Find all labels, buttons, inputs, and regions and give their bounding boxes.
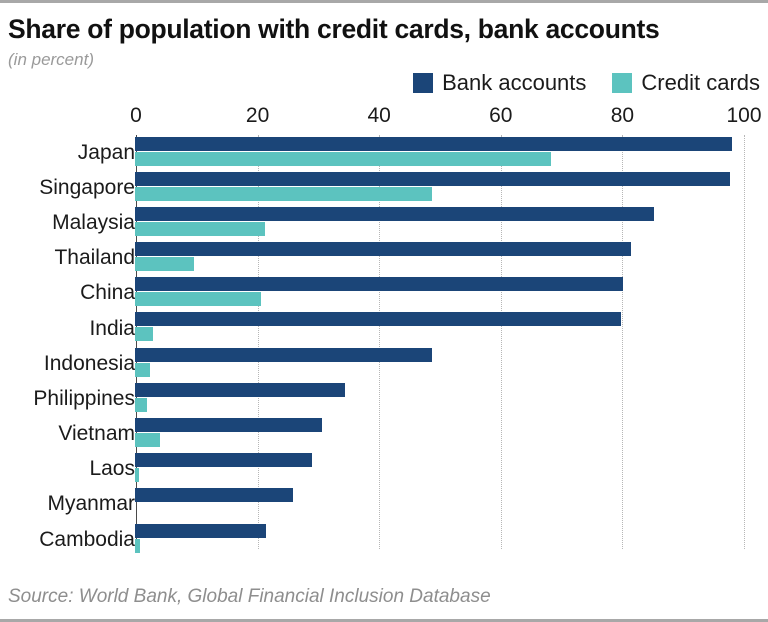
bar-row: China <box>0 276 768 311</box>
bar-vietnam-bank-accounts[interactable] <box>135 418 322 432</box>
bar-row: Laos <box>0 452 768 487</box>
legend-label-bank-accounts: Bank accounts <box>442 70 586 96</box>
bar-group <box>135 522 768 557</box>
chart-subtitle: (in percent) <box>8 50 94 70</box>
bar-rows: JapanSingaporeMalaysiaThailandChinaIndia… <box>0 135 768 557</box>
legend-label-credit-cards: Credit cards <box>641 70 760 96</box>
bar-vietnam-credit-cards[interactable] <box>135 433 160 447</box>
grid-area: JapanSingaporeMalaysiaThailandChinaIndia… <box>0 135 768 559</box>
bar-row: Vietnam <box>0 417 768 452</box>
bar-row: Indonesia <box>0 346 768 381</box>
bar-cambodia-credit-cards[interactable] <box>135 539 140 553</box>
x-tick-label: 80 <box>611 104 634 128</box>
category-label-laos: Laos <box>89 457 135 481</box>
category-label-india: India <box>89 317 135 341</box>
chart-title: Share of population with credit cards, b… <box>8 14 659 45</box>
bar-thailand-bank-accounts[interactable] <box>135 242 631 256</box>
bar-row: Singapore <box>0 170 768 205</box>
bar-group <box>135 135 768 170</box>
bar-japan-credit-cards[interactable] <box>135 152 551 166</box>
category-label-singapore: Singapore <box>39 176 135 200</box>
bar-group <box>135 346 768 381</box>
x-tick-label: 20 <box>246 104 269 128</box>
chart-legend: Bank accounts Credit cards <box>413 70 760 96</box>
legend-item-credit-cards[interactable]: Credit cards <box>612 70 760 96</box>
bar-group <box>135 452 768 487</box>
bar-row: Thailand <box>0 241 768 276</box>
bar-laos-bank-accounts[interactable] <box>135 453 312 467</box>
bar-singapore-credit-cards[interactable] <box>135 187 432 201</box>
category-label-malaysia: Malaysia <box>52 211 135 235</box>
bar-row: Japan <box>0 135 768 170</box>
bar-philippines-credit-cards[interactable] <box>135 398 147 412</box>
bar-malaysia-bank-accounts[interactable] <box>135 207 654 221</box>
bar-china-credit-cards[interactable] <box>135 292 261 306</box>
bar-myanmar-bank-accounts[interactable] <box>135 488 293 502</box>
bar-group <box>135 170 768 205</box>
bar-thailand-credit-cards[interactable] <box>135 257 194 271</box>
chart-figure: Share of population with credit cards, b… <box>0 0 768 622</box>
source-note: Source: World Bank, Global Financial Inc… <box>8 586 491 608</box>
bar-group <box>135 205 768 240</box>
bar-indonesia-bank-accounts[interactable] <box>135 348 432 362</box>
x-tick-label: 40 <box>368 104 391 128</box>
bar-india-bank-accounts[interactable] <box>135 312 621 326</box>
bar-row: Myanmar <box>0 487 768 522</box>
bar-group <box>135 417 768 452</box>
bar-laos-credit-cards[interactable] <box>135 468 139 482</box>
category-label-japan: Japan <box>78 141 135 165</box>
bar-singapore-bank-accounts[interactable] <box>135 172 730 186</box>
legend-item-bank-accounts[interactable]: Bank accounts <box>413 70 586 96</box>
x-axis-tick-labels: 020406080100 <box>0 104 768 132</box>
category-label-myanmar: Myanmar <box>47 492 135 516</box>
category-label-indonesia: Indonesia <box>44 352 135 376</box>
x-tick-label: 100 <box>726 104 761 128</box>
x-tick-label: 60 <box>489 104 512 128</box>
bar-row: India <box>0 311 768 346</box>
bar-group <box>135 276 768 311</box>
bar-malaysia-credit-cards[interactable] <box>135 222 265 236</box>
bar-japan-bank-accounts[interactable] <box>135 137 732 151</box>
bar-cambodia-bank-accounts[interactable] <box>135 524 266 538</box>
bar-group <box>135 381 768 416</box>
plot-area: 020406080100 JapanSingaporeMalaysiaThail… <box>0 104 768 559</box>
bar-group <box>135 241 768 276</box>
bar-group <box>135 311 768 346</box>
category-label-china: China <box>80 281 135 305</box>
x-tick-label: 0 <box>130 104 142 128</box>
bar-row: Philippines <box>0 381 768 416</box>
bar-row: Cambodia <box>0 522 768 557</box>
bar-china-bank-accounts[interactable] <box>135 277 623 291</box>
category-label-philippines: Philippines <box>33 387 135 411</box>
bar-row: Malaysia <box>0 205 768 240</box>
bar-indonesia-credit-cards[interactable] <box>135 363 150 377</box>
category-label-thailand: Thailand <box>54 246 135 270</box>
legend-swatch-credit-cards <box>612 73 632 93</box>
category-label-cambodia: Cambodia <box>39 528 135 552</box>
bar-group <box>135 487 768 522</box>
legend-swatch-bank-accounts <box>413 73 433 93</box>
top-rule <box>0 0 768 3</box>
bar-philippines-bank-accounts[interactable] <box>135 383 345 397</box>
category-label-vietnam: Vietnam <box>58 422 135 446</box>
bar-india-credit-cards[interactable] <box>135 327 153 341</box>
